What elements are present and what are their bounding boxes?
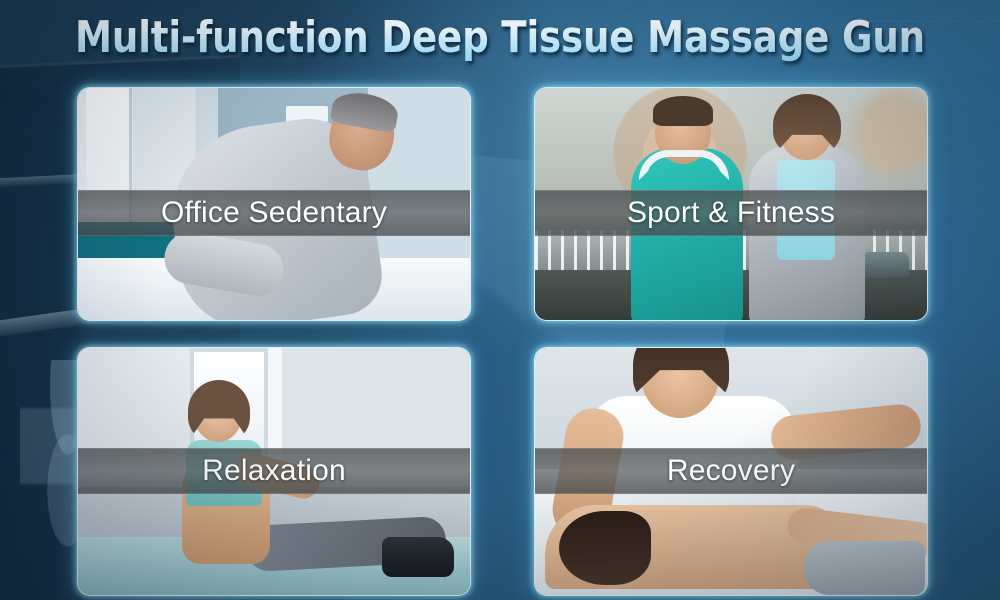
- promo-banner: Multi-function Deep Tissue Massage Gun O…: [0, 0, 1000, 600]
- relax-woman-shoe: [382, 537, 454, 577]
- card-recovery-label: Recovery: [667, 454, 795, 488]
- card-office-sedentary-label: Office Sedentary: [161, 196, 387, 230]
- recovery-patient-leg: [805, 541, 925, 595]
- recovery-patient-hair: [559, 511, 651, 585]
- sport-car: [863, 252, 909, 278]
- card-recovery-label-band: Recovery: [535, 448, 927, 494]
- sport-man-headphones: [639, 150, 729, 180]
- card-sport-fitness-label-band: Sport & Fitness: [535, 190, 927, 236]
- card-relaxation-label-band: Relaxation: [78, 448, 470, 494]
- card-office-sedentary-label-band: Office Sedentary: [78, 190, 470, 236]
- card-relaxation[interactable]: Relaxation: [78, 348, 470, 595]
- card-relaxation-label: Relaxation: [202, 454, 346, 488]
- card-office-sedentary[interactable]: Office Sedentary: [78, 88, 470, 320]
- page-title: Multi-function Deep Tissue Massage Gun: [30, 12, 970, 63]
- sport-man-hair: [653, 96, 713, 126]
- card-sport-fitness[interactable]: Sport & Fitness: [535, 88, 927, 320]
- card-sport-fitness-label: Sport & Fitness: [627, 196, 835, 230]
- card-recovery[interactable]: Recovery: [535, 348, 927, 595]
